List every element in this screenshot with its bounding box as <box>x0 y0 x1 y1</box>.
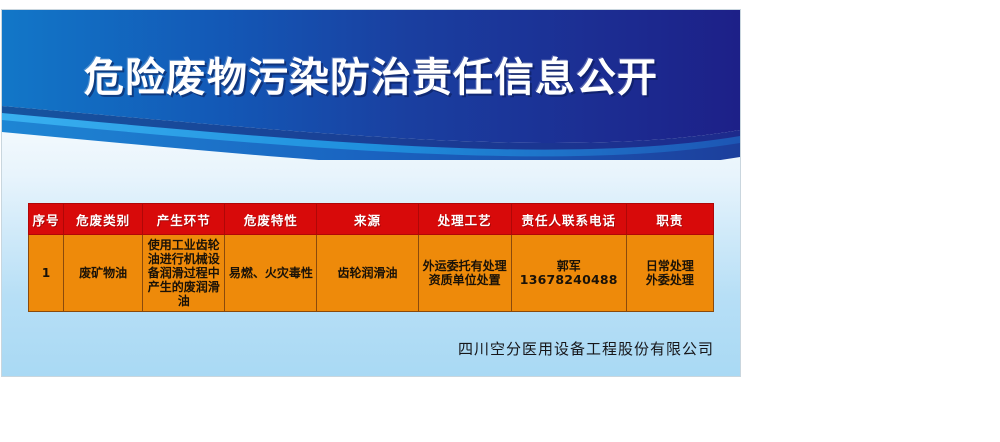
cell-treatment-process: 外运委托有处理资质单位处置 <box>418 235 511 312</box>
cell-generation-stage: 使用工业齿轮油进行机械设备润滑过程中产生的废润滑油 <box>143 235 225 312</box>
column-header-stage: 产生环节 <box>143 204 225 235</box>
responsible-person-phone: 13678240488 <box>513 273 625 287</box>
table-header-row: 序号 危废类别 产生环节 危废特性 来源 处理工艺 责任人联系电话 职责 <box>29 204 714 235</box>
column-header-contact: 责任人联系电话 <box>511 204 626 235</box>
column-header-property: 危废特性 <box>225 204 317 235</box>
cell-category: 废矿物油 <box>64 235 143 312</box>
header-banner: 危险废物污染防治责任信息公开 <box>2 10 740 160</box>
information-poster: 危险废物污染防治责任信息公开 序号 危废类别 产生环节 危废特性 来源 处理工艺… <box>2 10 740 376</box>
column-header-category: 危废类别 <box>64 204 143 235</box>
column-header-treatment: 处理工艺 <box>418 204 511 235</box>
responsible-person-name: 郭军 <box>513 259 625 273</box>
cell-index: 1 <box>29 235 64 312</box>
duty-line-2: 外委处理 <box>628 273 712 287</box>
table-row: 1 废矿物油 使用工业齿轮油进行机械设备润滑过程中产生的废润滑油 易燃、火灾毒性… <box>29 235 714 312</box>
column-header-source: 来源 <box>317 204 418 235</box>
column-header-index: 序号 <box>29 204 64 235</box>
cell-hazard-property: 易燃、火灾毒性 <box>225 235 317 312</box>
hazardous-waste-table: 序号 危废类别 产生环节 危废特性 来源 处理工艺 责任人联系电话 职责 1 废… <box>28 203 714 312</box>
cell-duty: 日常处理 外委处理 <box>626 235 713 312</box>
company-name: 四川空分医用设备工程股份有限公司 <box>2 338 714 359</box>
duty-line-1: 日常处理 <box>628 259 712 273</box>
cell-responsible-contact: 郭军 13678240488 <box>511 235 626 312</box>
banner-graphic <box>2 10 740 160</box>
column-header-duty: 职责 <box>626 204 713 235</box>
cell-source: 齿轮润滑油 <box>317 235 418 312</box>
